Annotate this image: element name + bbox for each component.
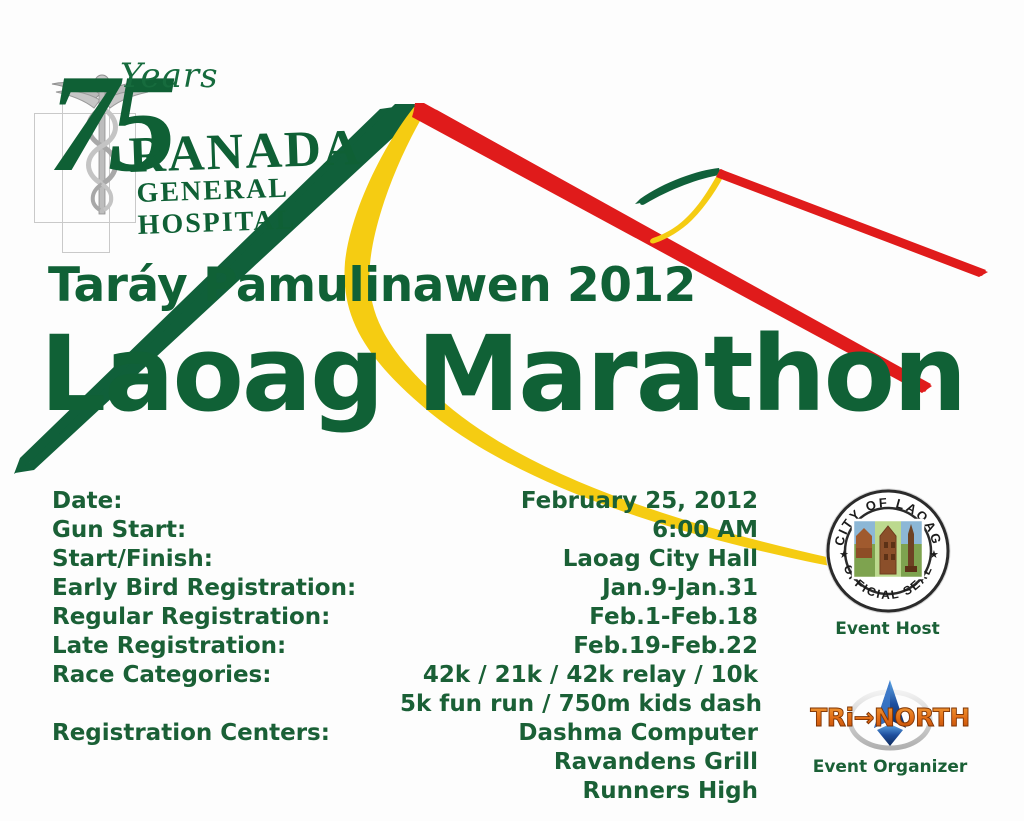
detail-row: Date:February 25, 2012 bbox=[52, 488, 764, 517]
detail-value: Laoag City Hall bbox=[400, 546, 764, 572]
detail-value: 42k / 21k / 42k relay / 10k bbox=[400, 662, 764, 688]
detail-value: 5k fun run / 750m kids dash bbox=[400, 691, 768, 717]
detail-value: Feb.19-Feb.22 bbox=[400, 633, 764, 659]
city-of-laoag-seal-icon: CITY OF LAOAG OFFICIAL SEAL ★ ★ bbox=[823, 486, 953, 616]
detail-row: Runners High bbox=[52, 778, 764, 807]
event-title: Laoag Marathon bbox=[40, 322, 965, 426]
detail-value: Dashma Computer bbox=[400, 720, 764, 746]
yellow-ribbon-small bbox=[650, 170, 726, 243]
granada-hospital-logo: 75 Years RANADA GENERAL HOSPITAL bbox=[24, 28, 374, 208]
detail-row: 5k fun run / 750m kids dash bbox=[52, 691, 764, 720]
red-ribbon-small bbox=[717, 169, 986, 276]
detail-label: Registration Centers: bbox=[52, 720, 400, 746]
detail-row: Race Categories:42k / 21k / 42k relay / … bbox=[52, 662, 764, 691]
event-host-block: CITY OF LAOAG OFFICIAL SEAL ★ ★ bbox=[800, 486, 975, 639]
event-details-list: Date:February 25, 2012Gun Start:6:00 AMS… bbox=[52, 488, 764, 807]
detail-label: Race Categories: bbox=[52, 662, 400, 688]
green-ribbon-small bbox=[640, 169, 720, 205]
anniversary-years-label: Years bbox=[120, 56, 219, 96]
event-host-caption: Event Host bbox=[800, 619, 975, 639]
detail-value: 6:00 AM bbox=[400, 517, 764, 543]
marathon-poster: 75 Years RANADA GENERAL HOSPITAL Taráy P… bbox=[0, 0, 1024, 821]
detail-row: Registration Centers:Dashma Computer bbox=[52, 720, 764, 749]
green-ribbon-small-2 bbox=[635, 168, 721, 204]
detail-row: Late Registration:Feb.19-Feb.22 bbox=[52, 633, 764, 662]
detail-label: Gun Start: bbox=[52, 517, 400, 543]
detail-value: February 25, 2012 bbox=[400, 488, 764, 514]
detail-value: Jan.9-Jan.31 bbox=[400, 575, 764, 601]
detail-row: Ravandens Grill bbox=[52, 749, 764, 778]
detail-label: Start/Finish: bbox=[52, 546, 400, 572]
detail-row: Regular Registration:Feb.1-Feb.18 bbox=[52, 604, 764, 633]
detail-label: Late Registration: bbox=[52, 633, 400, 659]
detail-value: Ravandens Grill bbox=[400, 749, 764, 775]
detail-label: Date: bbox=[52, 488, 400, 514]
detail-row: Early Bird Registration:Jan.9-Jan.31 bbox=[52, 575, 764, 604]
detail-value: Runners High bbox=[400, 778, 764, 804]
detail-label: Early Bird Registration: bbox=[52, 575, 400, 601]
detail-value: Feb.1-Feb.18 bbox=[400, 604, 764, 630]
tri-north-logo-icon: TRi→NORTH bbox=[805, 676, 975, 754]
svg-text:★: ★ bbox=[839, 549, 849, 561]
detail-label: Regular Registration: bbox=[52, 604, 400, 630]
event-organizer-block: TRi→NORTH Event Organizer bbox=[790, 676, 990, 777]
svg-text:★: ★ bbox=[929, 549, 939, 561]
event-organizer-caption: Event Organizer bbox=[790, 757, 990, 777]
event-subtitle: Taráy Pamulinawen 2012 bbox=[48, 258, 696, 313]
red-ribbon-small-body bbox=[716, 169, 988, 277]
hospital-subname: GENERAL HOSPITAL bbox=[136, 170, 376, 242]
detail-row: Start/Finish:Laoag City Hall bbox=[52, 546, 764, 575]
detail-row: Gun Start:6:00 AM bbox=[52, 517, 764, 546]
svg-text:TRi→NORTH: TRi→NORTH bbox=[810, 703, 970, 732]
